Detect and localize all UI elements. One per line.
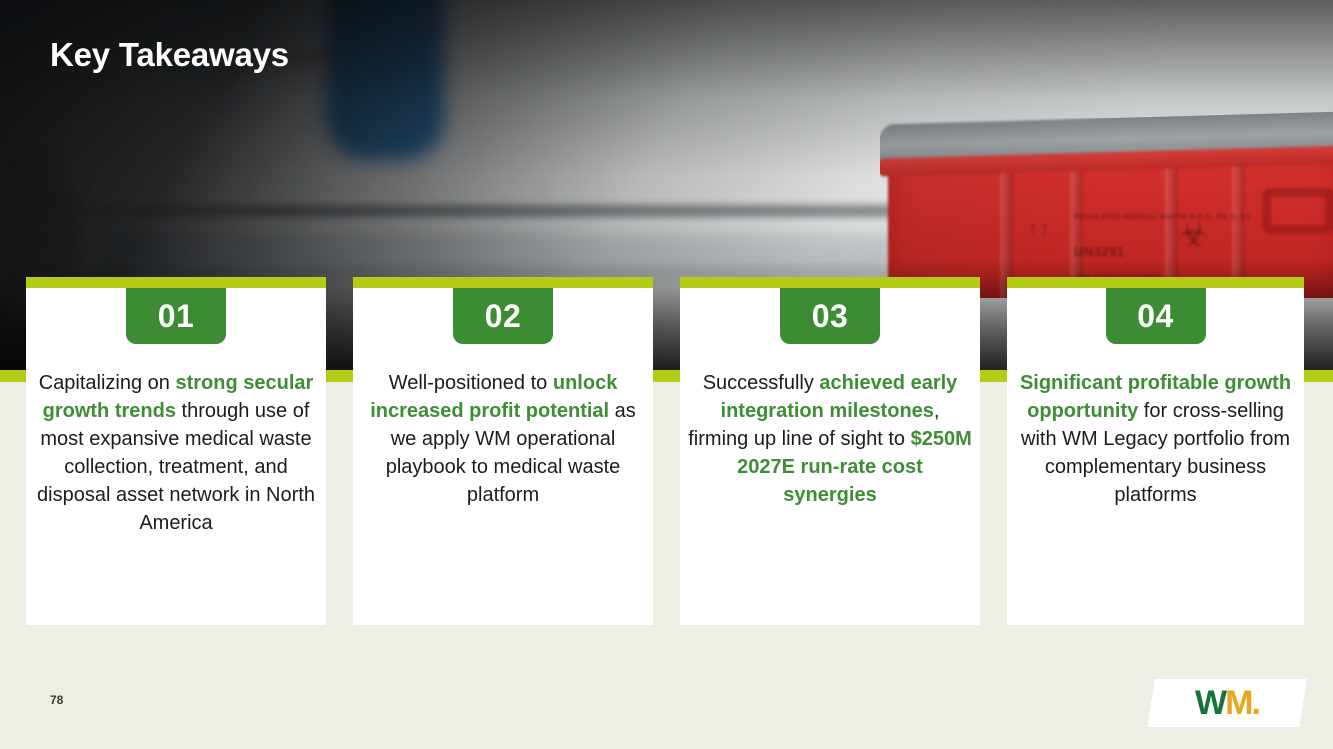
card-body-text: Capitalizing on strong secular growth tr… (34, 369, 318, 537)
wm-logo-dot: . (1251, 686, 1258, 720)
card-body-text: Successfully achieved early integration … (688, 369, 972, 509)
card-number-badge: 01 (126, 288, 226, 344)
wm-logo-wordmark: WM. (1195, 686, 1259, 720)
slide: ↑↑ REGULATED MEDICAL WASTE N.O.S., PG II… (0, 0, 1333, 749)
takeaway-card-01[interactable]: 01 Capitalizing on strong secular growth… (26, 277, 326, 625)
card-number-badge: 04 (1106, 288, 1206, 344)
takeaway-card-02[interactable]: 02 Well-positioned to unlock increased p… (353, 277, 653, 625)
page-number: 78 (50, 693, 63, 707)
card-number-badge: 03 (780, 288, 880, 344)
card-body-text: Significant profitable growth opportunit… (1015, 369, 1296, 509)
wm-logo-w: W (1195, 686, 1225, 720)
wm-logo: WM. (1147, 679, 1307, 727)
card-body-text: Well-positioned to unlock increased prof… (361, 369, 645, 509)
takeaway-card-list: 01 Capitalizing on strong secular growth… (0, 0, 1333, 749)
card-number-badge: 02 (453, 288, 553, 344)
wm-logo-m: M (1225, 686, 1251, 720)
takeaway-card-04[interactable]: 04 Significant profitable growth opportu… (1007, 277, 1304, 625)
takeaway-card-03[interactable]: 03 Successfully achieved early integrati… (680, 277, 980, 625)
